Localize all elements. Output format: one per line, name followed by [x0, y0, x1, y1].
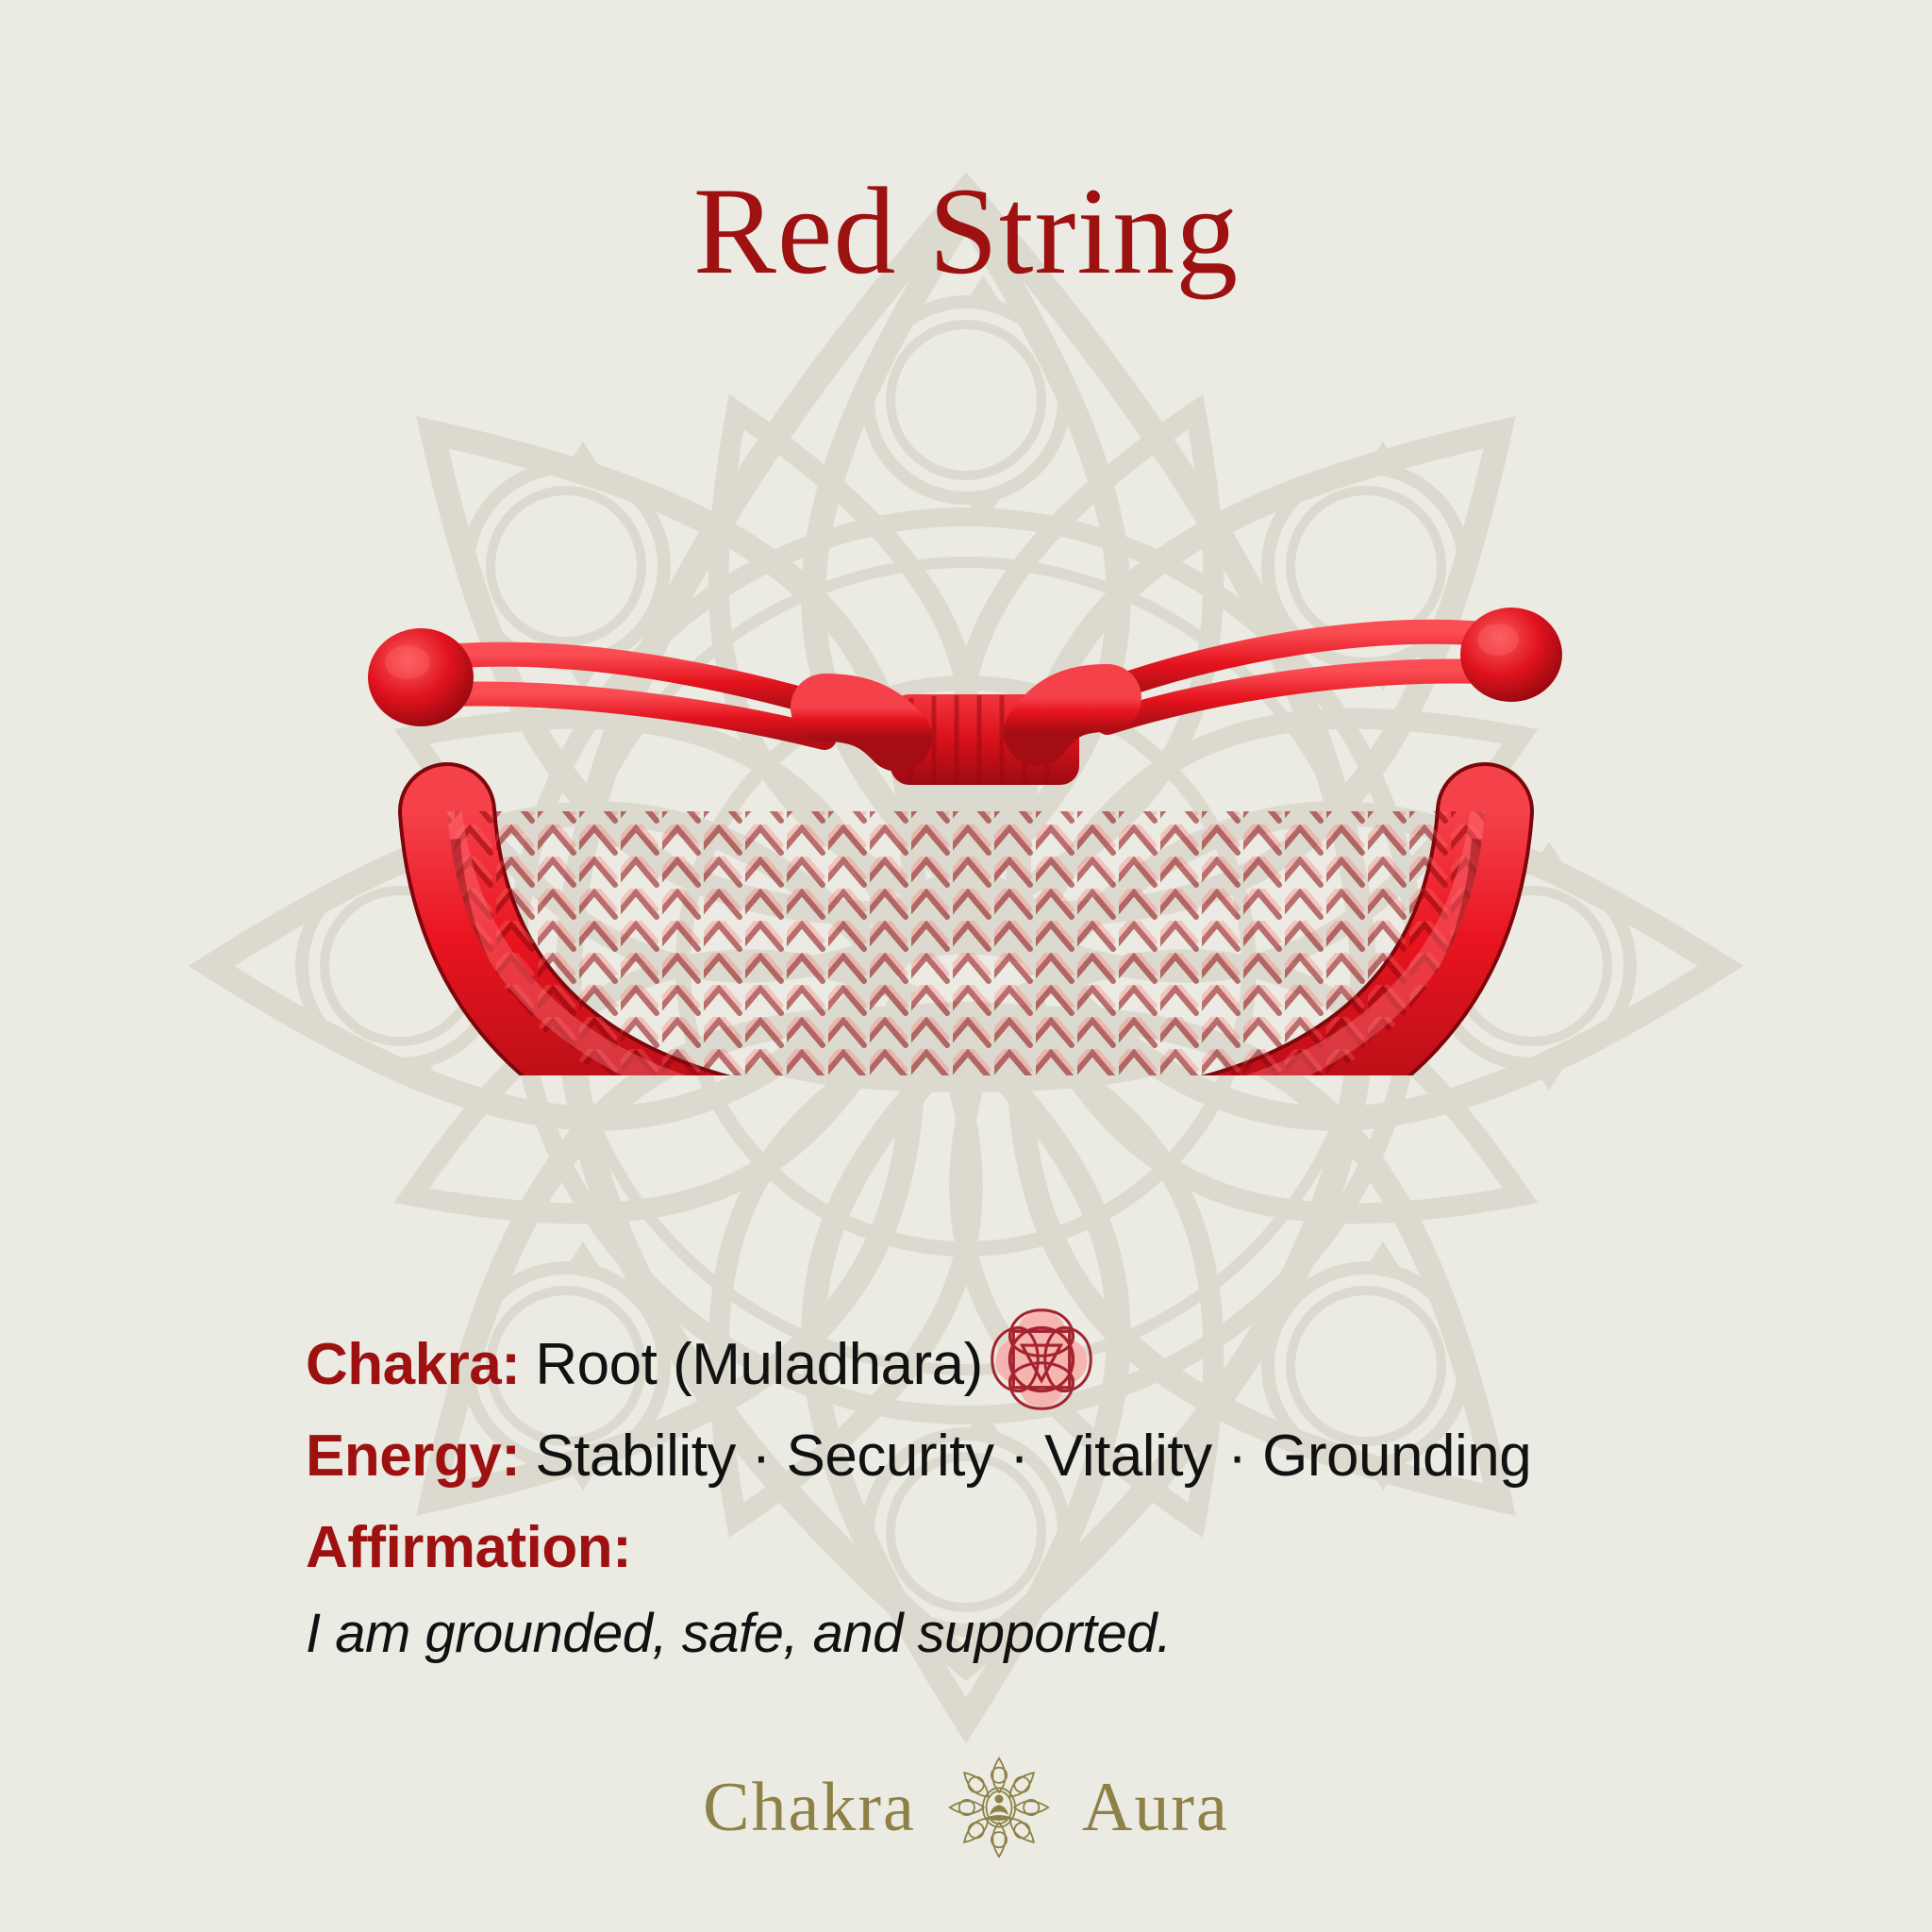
- energy-value: Stability · Security · Vitality · Ground…: [535, 1423, 1531, 1490]
- info-row-affirmation-label: Affirmation:: [306, 1514, 1790, 1581]
- affirmation-label: Affirmation:: [306, 1514, 631, 1581]
- muladhara-root-chakra-icon: [989, 1307, 1094, 1412]
- cord-knot-bead-right: [1460, 608, 1562, 702]
- brand-footer: Chakra: [0, 1757, 1932, 1858]
- cord-knot-bead-left: [368, 628, 474, 726]
- product-image: [164, 472, 1768, 1075]
- energy-label: Energy:: [306, 1423, 520, 1490]
- brand-name-first: Chakra: [703, 1768, 916, 1848]
- affirmation-text: I am grounded, safe, and supported.: [306, 1602, 1790, 1665]
- lotus-mandala-logo-icon: [948, 1757, 1050, 1858]
- info-row-energy: Energy: Stability · Security · Vitality …: [306, 1423, 1790, 1490]
- chakra-value: Root (Muladhara): [535, 1331, 982, 1398]
- info-row-chakra: Chakra: Root (Muladhara): [306, 1278, 1790, 1398]
- product-card: Red String: [0, 0, 1932, 1932]
- chakra-label: Chakra:: [306, 1331, 520, 1398]
- page-title: Red String: [0, 166, 1932, 297]
- brand-name-second: Aura: [1082, 1768, 1229, 1848]
- product-info: Chakra: Root (Muladhara): [306, 1278, 1790, 1665]
